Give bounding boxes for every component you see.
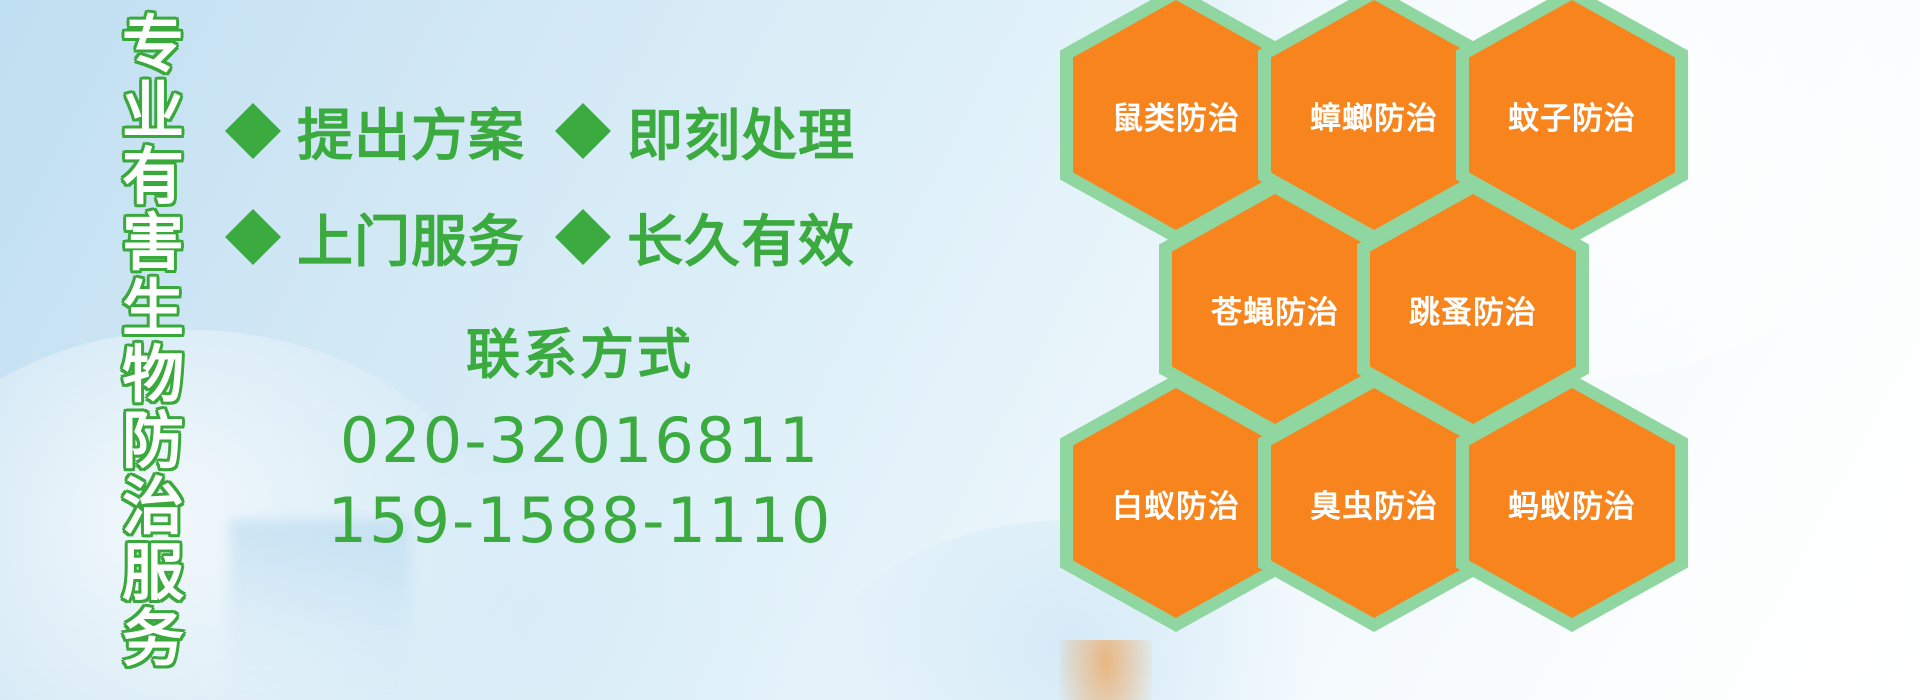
- vertical-headline-char: 生: [122, 276, 184, 342]
- vertical-headline-char: 专: [122, 12, 184, 78]
- feature-row: 上门服务 长久有效: [225, 184, 885, 290]
- feature-list: 提出方案 即刻处理 上门服务 长久有效: [225, 78, 885, 290]
- pest-control-service-banner: 专 业 有 害 生 物 防 治 服 务 提出方案 即刻处理 上门服务: [0, 0, 1920, 700]
- vertical-headline-char: 治: [122, 474, 184, 540]
- service-hex-label: 蟑螂防治: [1310, 93, 1438, 138]
- diamond-bullet-icon: [555, 181, 611, 237]
- service-hex-label: 苍蝇防治: [1211, 287, 1339, 332]
- vertical-headline-char: 服: [122, 540, 184, 606]
- diamond-bullet-icon: [225, 75, 281, 131]
- vertical-headline-char: 防: [122, 408, 184, 474]
- diamond-bullet-icon: [225, 181, 281, 237]
- contact-block: 联系方式 020-32016811 159-1588-1110: [250, 310, 910, 561]
- service-hex-label: 臭虫防治: [1310, 481, 1438, 526]
- service-hex-label: 蚊子防治: [1508, 93, 1636, 138]
- feature-row: 提出方案 即刻处理: [225, 78, 885, 184]
- feature-label: 即刻处理: [627, 91, 855, 172]
- service-hex-label: 白蚁防治: [1112, 481, 1240, 526]
- vertical-headline-char: 业: [122, 78, 184, 144]
- feature-label: 上门服务: [297, 197, 525, 278]
- vertical-headline: 专 业 有 害 生 物 防 治 服 务: [108, 12, 198, 688]
- vertical-headline-char: 物: [122, 342, 184, 408]
- feature-item-long-lasting: 长久有效: [555, 197, 855, 278]
- contact-phone-mobile[interactable]: 159-1588-1110: [250, 481, 910, 561]
- contact-title: 联系方式: [250, 310, 910, 389]
- contact-phone-landline[interactable]: 020-32016811: [250, 401, 910, 481]
- feature-item-immediate-handling: 即刻处理: [555, 91, 855, 172]
- feature-item-propose-plan: 提出方案: [225, 91, 525, 172]
- service-hex-label: 跳蚤防治: [1409, 287, 1537, 332]
- vertical-headline-char: 害: [122, 210, 184, 276]
- vertical-headline-char: 务: [122, 606, 184, 672]
- feature-label: 提出方案: [297, 91, 525, 172]
- service-hex-label: 蚂蚁防治: [1508, 481, 1636, 526]
- service-hex-label: 鼠类防治: [1112, 93, 1240, 138]
- diamond-bullet-icon: [555, 75, 611, 131]
- vertical-headline-char: 有: [122, 144, 184, 210]
- feature-item-onsite-service: 上门服务: [225, 197, 525, 278]
- feature-label: 长久有效: [627, 197, 855, 278]
- service-honeycomb-grid: 鼠类防治 蟑螂防治 蚊子防治 苍蝇防治 跳蚤防治 白蚁防治 臭虫防治 蚂蚁防治: [1060, 0, 1920, 700]
